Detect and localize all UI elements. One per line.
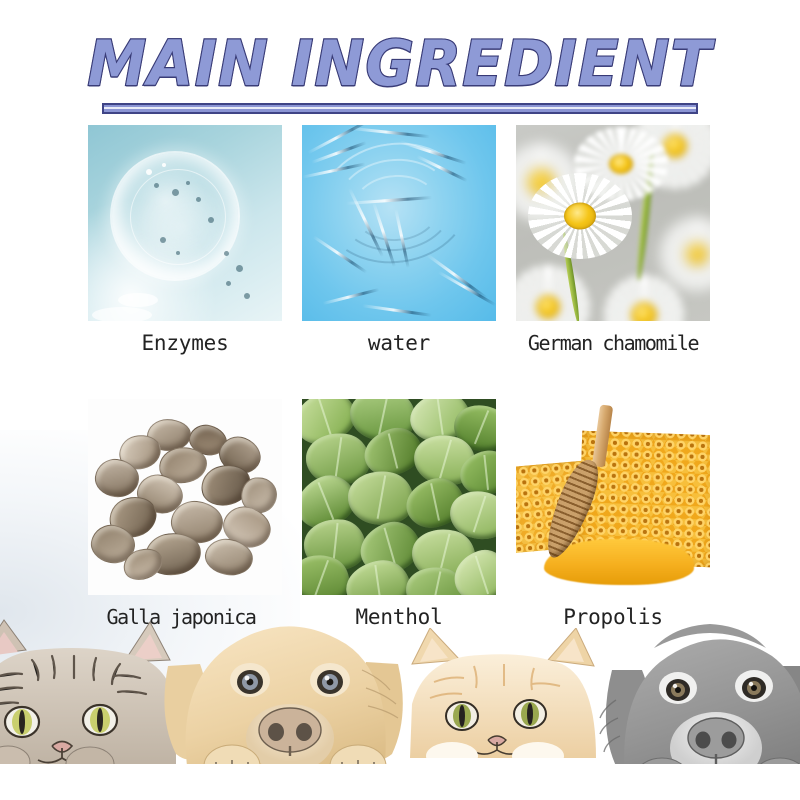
- ingredient-cell-enzymes[interactable]: Enzymes: [88, 125, 282, 355]
- ingredient-cell-water[interactable]: water: [302, 125, 496, 355]
- ingredient-cell-propolis[interactable]: Propolis: [516, 399, 710, 629]
- droplet-icon: [226, 281, 231, 286]
- droplet-icon: [160, 237, 166, 243]
- ingredient-label-enzymes: Enzymes: [88, 331, 282, 355]
- droplet-icon: [196, 197, 201, 202]
- ingredient-label-water: water: [302, 331, 496, 355]
- droplet-icon: [244, 293, 250, 299]
- page-title: MAIN INGREDIENT: [87, 32, 712, 96]
- ripple-streak: [322, 288, 379, 305]
- water-image: [302, 125, 496, 321]
- ingredient-cell-galla-japonica[interactable]: Galla japonica: [88, 399, 282, 629]
- ripple-streak: [350, 127, 430, 138]
- ingredient-row-2: Galla japonica: [88, 399, 712, 629]
- foam-icon: [118, 293, 158, 307]
- droplet-icon: [154, 183, 159, 188]
- bubble-icon: [110, 151, 240, 281]
- german-chamomile-image: [516, 125, 710, 321]
- ingredient-poster: MAIN INGREDIENT: [0, 0, 800, 800]
- title-block: MAIN INGREDIENT: [0, 34, 800, 114]
- sparkle-icon: [162, 163, 166, 167]
- chamomile-flower-icon: [516, 265, 590, 321]
- droplet-icon: [176, 251, 180, 255]
- menthol-image: [302, 399, 496, 595]
- ingredient-grid: Enzymes: [88, 125, 712, 629]
- droplet-icon: [236, 265, 243, 272]
- ripple-streak: [438, 271, 496, 307]
- enzymes-image: [88, 125, 282, 321]
- galla-japonica-image: [88, 399, 282, 595]
- droplet-icon: [172, 189, 179, 196]
- propolis-image: [516, 399, 710, 595]
- ripple-streak: [362, 304, 432, 317]
- ingredient-row-1: Enzymes: [88, 125, 712, 355]
- white-ledge: [0, 764, 800, 800]
- foam-icon: [92, 307, 152, 321]
- ingredient-label-german-chamomile: German chamomile: [516, 331, 710, 355]
- sparkle-icon: [146, 169, 152, 175]
- title-underline-rule: [102, 103, 698, 114]
- droplet-icon: [186, 181, 190, 185]
- chamomile-flower-icon: [604, 275, 684, 321]
- chamomile-flower-icon: [528, 173, 632, 259]
- droplet-icon: [224, 251, 229, 256]
- animal-golden-retriever-dog: [154, 606, 414, 774]
- animals-strip: [0, 620, 800, 800]
- animal-ginger-cat: [404, 628, 604, 758]
- gallnut-pile-icon: [93, 421, 277, 579]
- droplet-icon: [208, 217, 214, 223]
- ingredient-cell-german-chamomile[interactable]: German chamomile: [516, 125, 710, 355]
- ingredient-cell-menthol[interactable]: Menthol: [302, 399, 496, 629]
